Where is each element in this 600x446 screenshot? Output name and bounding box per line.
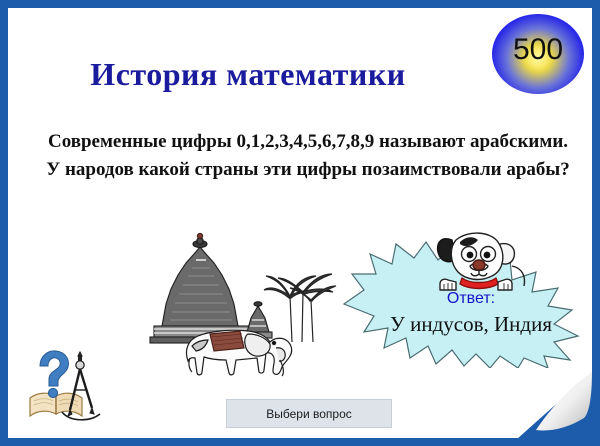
- quiz-slide: История математики Современные цифры 0,1…: [0, 0, 600, 446]
- score-badge: 500: [492, 14, 584, 94]
- select-question-button[interactable]: Выбери вопрос: [226, 399, 392, 428]
- page-curl-corner: [518, 372, 592, 438]
- score-badge-value: 500: [513, 35, 563, 65]
- question-text: Современные цифры 0,1,2,3,4,5,6,7,8,9 на…: [46, 128, 570, 183]
- answer-value: У индусов, Индия: [340, 312, 592, 337]
- decorative-icons-group: [26, 346, 110, 422]
- page-title: История математики: [48, 56, 448, 93]
- indian-temple-elephant-illustration: [140, 230, 340, 380]
- dalmatian-puppy-icon: [426, 230, 530, 292]
- answer-label: Ответ:: [340, 290, 592, 308]
- question-mark-icon: [40, 351, 68, 398]
